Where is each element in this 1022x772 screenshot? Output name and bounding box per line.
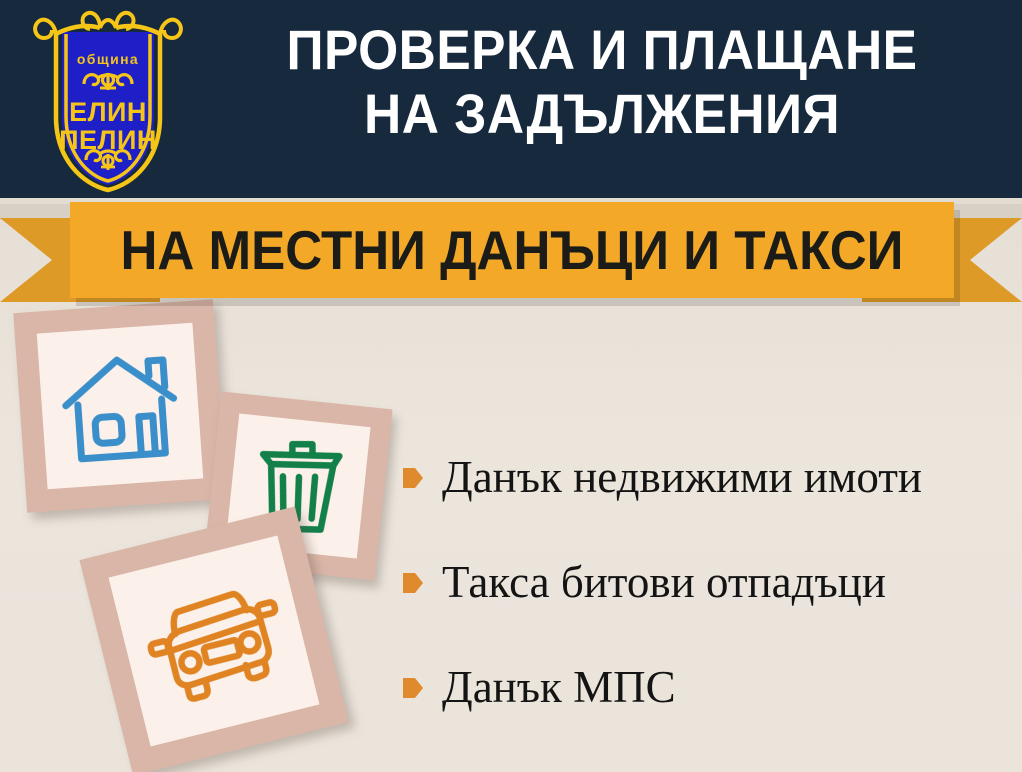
header-title-block: ПРОВЕРКА И ПЛАЩАНЕ НА ЗАДЪЛЖЕНИЯ bbox=[196, 18, 1008, 146]
arrow-bullet-icon bbox=[402, 465, 424, 491]
list-item[interactable]: Данък МПС bbox=[402, 634, 1014, 739]
municipality-logo: община ЕЛИН ПЕЛИН bbox=[24, 4, 192, 194]
list-item-label: Данък МПС bbox=[442, 662, 676, 712]
logo-word-elin: ЕЛИН bbox=[69, 97, 147, 127]
list-item-label: Данък недвижими имоти bbox=[442, 452, 922, 502]
page-title-line-2: НА ЗАДЪЛЖЕНИЯ bbox=[228, 82, 975, 146]
ribbon-label: НА МЕСТНИ ДАНЪЦИ И ТАКСИ bbox=[121, 221, 904, 279]
list-item[interactable]: Данък недвижими имоти bbox=[402, 424, 1014, 529]
subtitle-ribbon: НА МЕСТНИ ДАНЪЦИ И ТАКСИ bbox=[0, 196, 1022, 304]
page-title-line-1: ПРОВЕРКА И ПЛАЩАНЕ bbox=[228, 18, 975, 82]
tax-type-list: Данък недвижими имоти Такса битови отпад… bbox=[402, 424, 1014, 739]
logo-word-obshtina: община bbox=[77, 51, 139, 67]
poster-canvas: община ЕЛИН ПЕЛИН ПРОВЕРКА И ПЛАЩАНЕ НА … bbox=[0, 0, 1022, 772]
arrow-bullet-icon bbox=[402, 570, 424, 596]
arrow-bullet-icon bbox=[402, 675, 424, 701]
list-item-label: Такса битови отпадъци bbox=[442, 557, 886, 607]
list-item[interactable]: Такса битови отпадъци bbox=[402, 529, 1014, 634]
crest-icon: община ЕЛИН ПЕЛИН bbox=[24, 4, 192, 194]
stamp-house bbox=[13, 299, 226, 512]
ribbon-body: НА МЕСТНИ ДАНЪЦИ И ТАКСИ bbox=[70, 202, 954, 298]
stamp-house-frame bbox=[13, 299, 226, 512]
